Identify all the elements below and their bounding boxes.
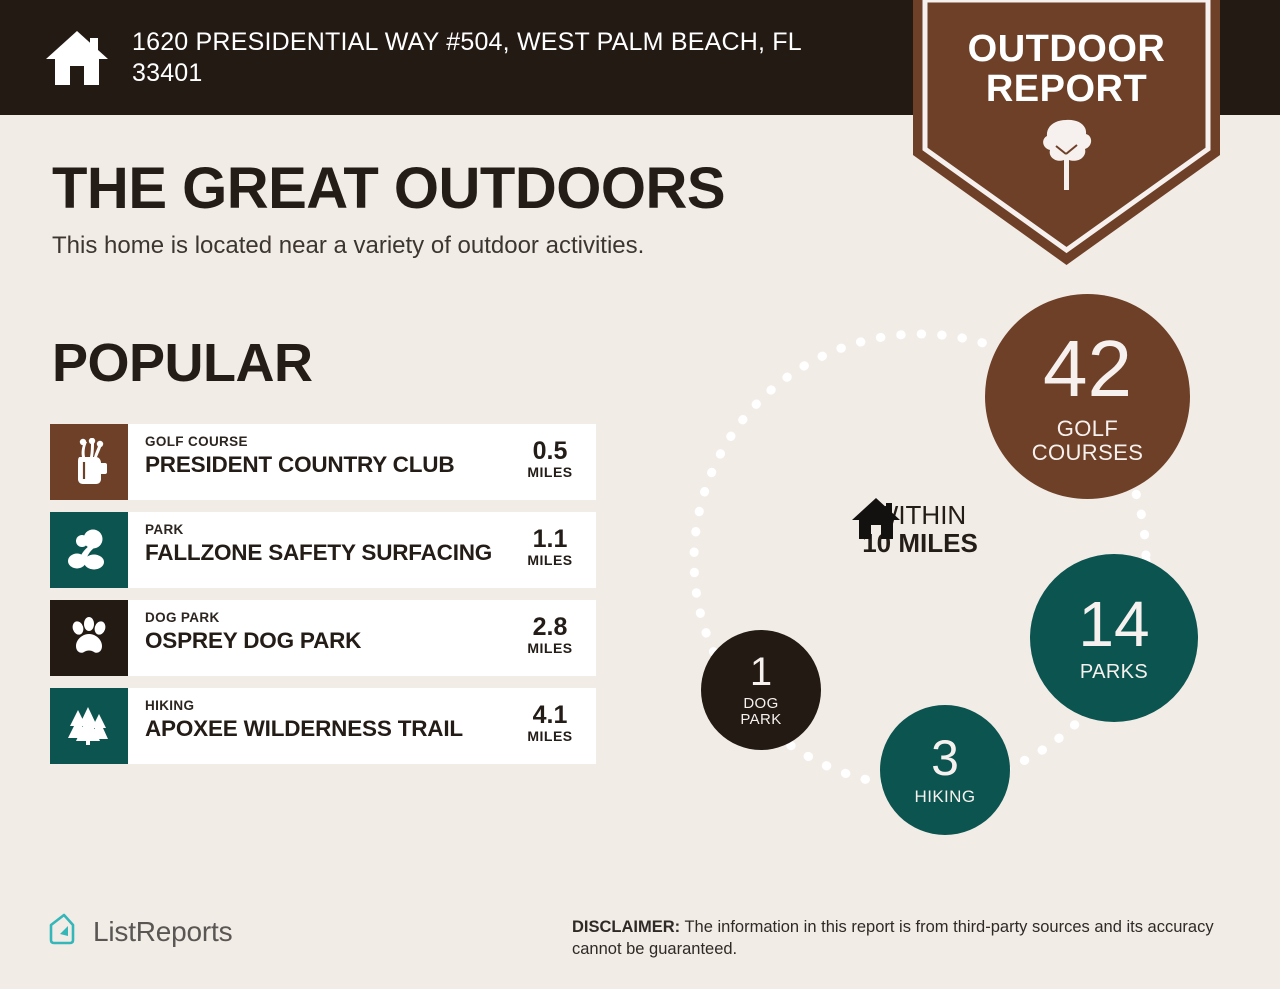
list-item-name: OSPREY DOG PARK: [145, 628, 498, 654]
bubble-label-line1: GOLF: [1057, 416, 1119, 441]
listreports-logo-text: ListReports: [93, 916, 232, 948]
bubble-dog-park[interactable]: 1 DOG PARK: [701, 630, 821, 750]
list-item-category: GOLF COURSE: [145, 435, 498, 450]
list-item-distance: 4.1 MILES: [504, 688, 596, 764]
list-item-distance: 1.1 MILES: [504, 512, 596, 588]
bubble-label: PARKS: [1080, 662, 1148, 683]
list-item-name: APOXEE WILDERNESS TRAIL: [145, 716, 498, 742]
distance-unit: MILES: [504, 552, 596, 568]
distance-value: 4.1: [504, 702, 596, 728]
badge-title-line1: OUTDOOR: [968, 28, 1166, 70]
bubble-label: HIKING: [915, 788, 976, 806]
listreports-logo[interactable]: ListReports: [48, 912, 232, 951]
bubble-label-line1: DOG: [743, 695, 778, 712]
golf-bag-icon: [50, 424, 128, 500]
bubble-value: 14: [1078, 592, 1149, 656]
bubble-hiking[interactable]: 3 HIKING: [880, 705, 1010, 835]
outdoor-report-badge: OUTDOOR REPORT: [913, 0, 1220, 265]
bubble-label: DOG PARK: [740, 696, 781, 728]
bubble-golf-courses[interactable]: 42 GOLF COURSES: [985, 294, 1190, 499]
badge-title: OUTDOOR REPORT: [913, 30, 1220, 110]
bubble-value: 3: [931, 733, 959, 783]
listreports-house-icon: [48, 912, 82, 951]
bubble-parks[interactable]: 14 PARKS: [1030, 554, 1198, 722]
distance-value: 1.1: [504, 526, 596, 552]
disclaimer: DISCLAIMER: The information in this repo…: [572, 916, 1232, 961]
list-item-category: HIKING: [145, 699, 498, 714]
list-item[interactable]: DOG PARK OSPREY DOG PARK 2.8 MILES: [50, 600, 596, 676]
list-item[interactable]: GOLF COURSE PRESIDENT COUNTRY CLUB 0.5 M…: [50, 424, 596, 500]
bubble-value: 1: [750, 652, 772, 692]
diagram-center-label: WITHIN 10 MILES: [850, 495, 990, 558]
distance-unit: MILES: [504, 728, 596, 744]
bubble-value: 42: [1043, 329, 1132, 409]
bubble-label-line2: PARK: [740, 711, 781, 728]
disclaimer-label: DISCLAIMER:: [572, 918, 680, 936]
distance-value: 0.5: [504, 438, 596, 464]
home-icon: [44, 28, 110, 88]
bubble-label-line2: COURSES: [1032, 440, 1144, 465]
bubble-label: GOLF COURSES: [1032, 417, 1144, 464]
page-subtitle: This home is located near a variety of o…: [52, 232, 644, 260]
list-item[interactable]: PARK FALLZONE SAFETY SURFACING 1.1 MILES: [50, 512, 596, 588]
paw-icon: [50, 600, 128, 676]
popular-list: GOLF COURSE PRESIDENT COUNTRY CLUB 0.5 M…: [50, 424, 596, 776]
distance-value: 2.8: [504, 614, 596, 640]
list-item-category: PARK: [145, 523, 498, 538]
list-item-distance: 2.8 MILES: [504, 600, 596, 676]
header-address: 1620 PRESIDENTIAL WAY #504, WEST PALM BE…: [132, 27, 872, 88]
page-title: THE GREAT OUTDOORS: [52, 155, 725, 222]
badge-title-line2: REPORT: [913, 70, 1220, 110]
distance-unit: MILES: [504, 640, 596, 656]
pine-trees-icon: [50, 688, 128, 764]
list-item-distance: 0.5 MILES: [504, 424, 596, 500]
list-item-category: DOG PARK: [145, 611, 498, 626]
within-10-miles-diagram: WITHIN 10 MILES 42 GOLF COURSES 14 PARKS…: [620, 270, 1260, 860]
list-item-name: PRESIDENT COUNTRY CLUB: [145, 452, 498, 478]
distance-unit: MILES: [504, 464, 596, 480]
list-item-name: FALLZONE SAFETY SURFACING: [145, 540, 498, 566]
list-item[interactable]: HIKING APOXEE WILDERNESS TRAIL 4.1 MILES: [50, 688, 596, 764]
park-tree-icon: [50, 512, 128, 588]
popular-heading: POPULAR: [52, 332, 313, 394]
